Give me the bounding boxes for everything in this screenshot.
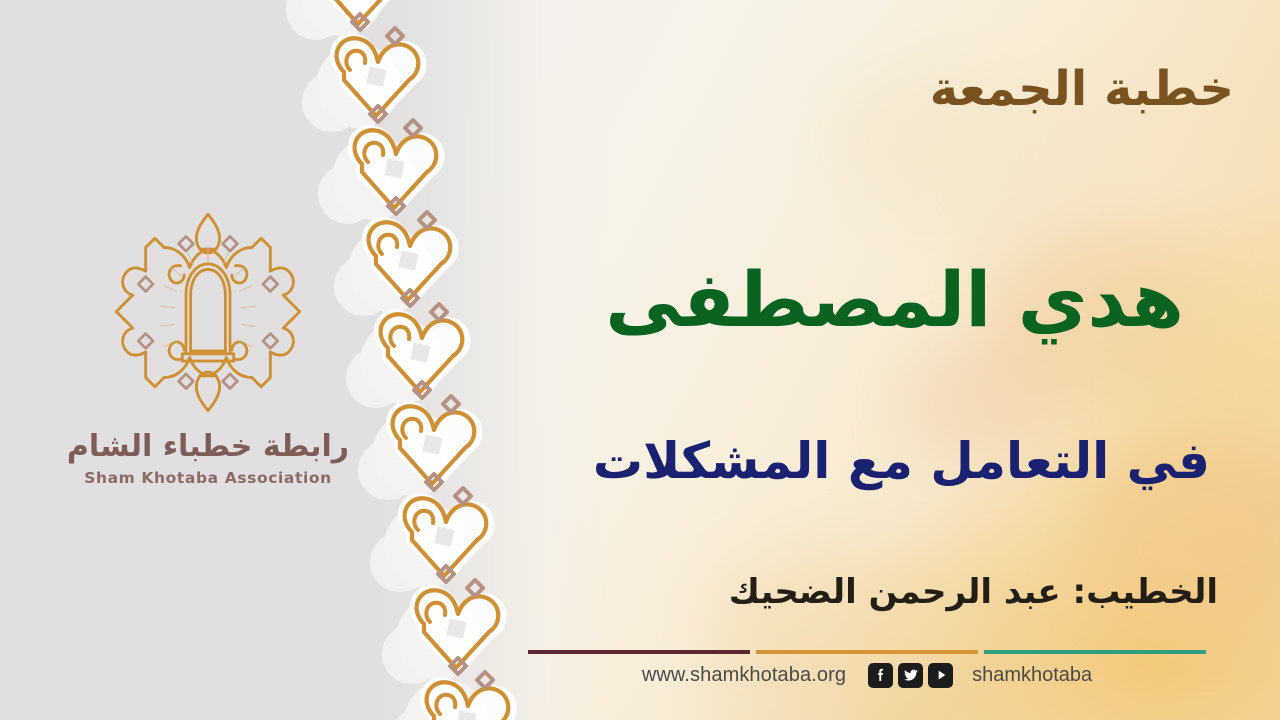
sermon-title-main: هدي المصطفى xyxy=(605,254,1184,345)
logo-name-arabic: رابطة خطباء الشام xyxy=(58,430,358,463)
youtube-icon[interactable] xyxy=(928,663,953,688)
footer-rule-maroon xyxy=(528,650,750,654)
footer-bar: www.shamkhotaba.org shamkhotaba xyxy=(528,658,1206,692)
sermon-kicker: خطبة الجمعة xyxy=(930,62,1234,117)
sermon-speaker: الخطيب: عبد الرحمن الضحيك xyxy=(729,572,1218,613)
social-links xyxy=(868,663,953,688)
website-url[interactable]: www.shamkhotaba.org xyxy=(642,664,846,687)
association-logo: رابطة خطباء الشام Sham Khotaba Associati… xyxy=(58,205,358,487)
logo-name-english: Sham Khotaba Association xyxy=(58,469,358,487)
footer-rule-teal xyxy=(984,650,1206,654)
sermon-title-card: رابطة خطباء الشام Sham Khotaba Associati… xyxy=(0,0,1280,720)
footer-rule-gold xyxy=(756,650,978,654)
twitter-icon[interactable] xyxy=(898,663,923,688)
facebook-icon[interactable] xyxy=(868,663,893,688)
social-handle[interactable]: shamkhotaba xyxy=(972,664,1092,687)
mihrab-star-ornament-icon xyxy=(98,205,318,420)
sermon-title-sub: في التعامل مع المشكلات xyxy=(593,430,1210,493)
